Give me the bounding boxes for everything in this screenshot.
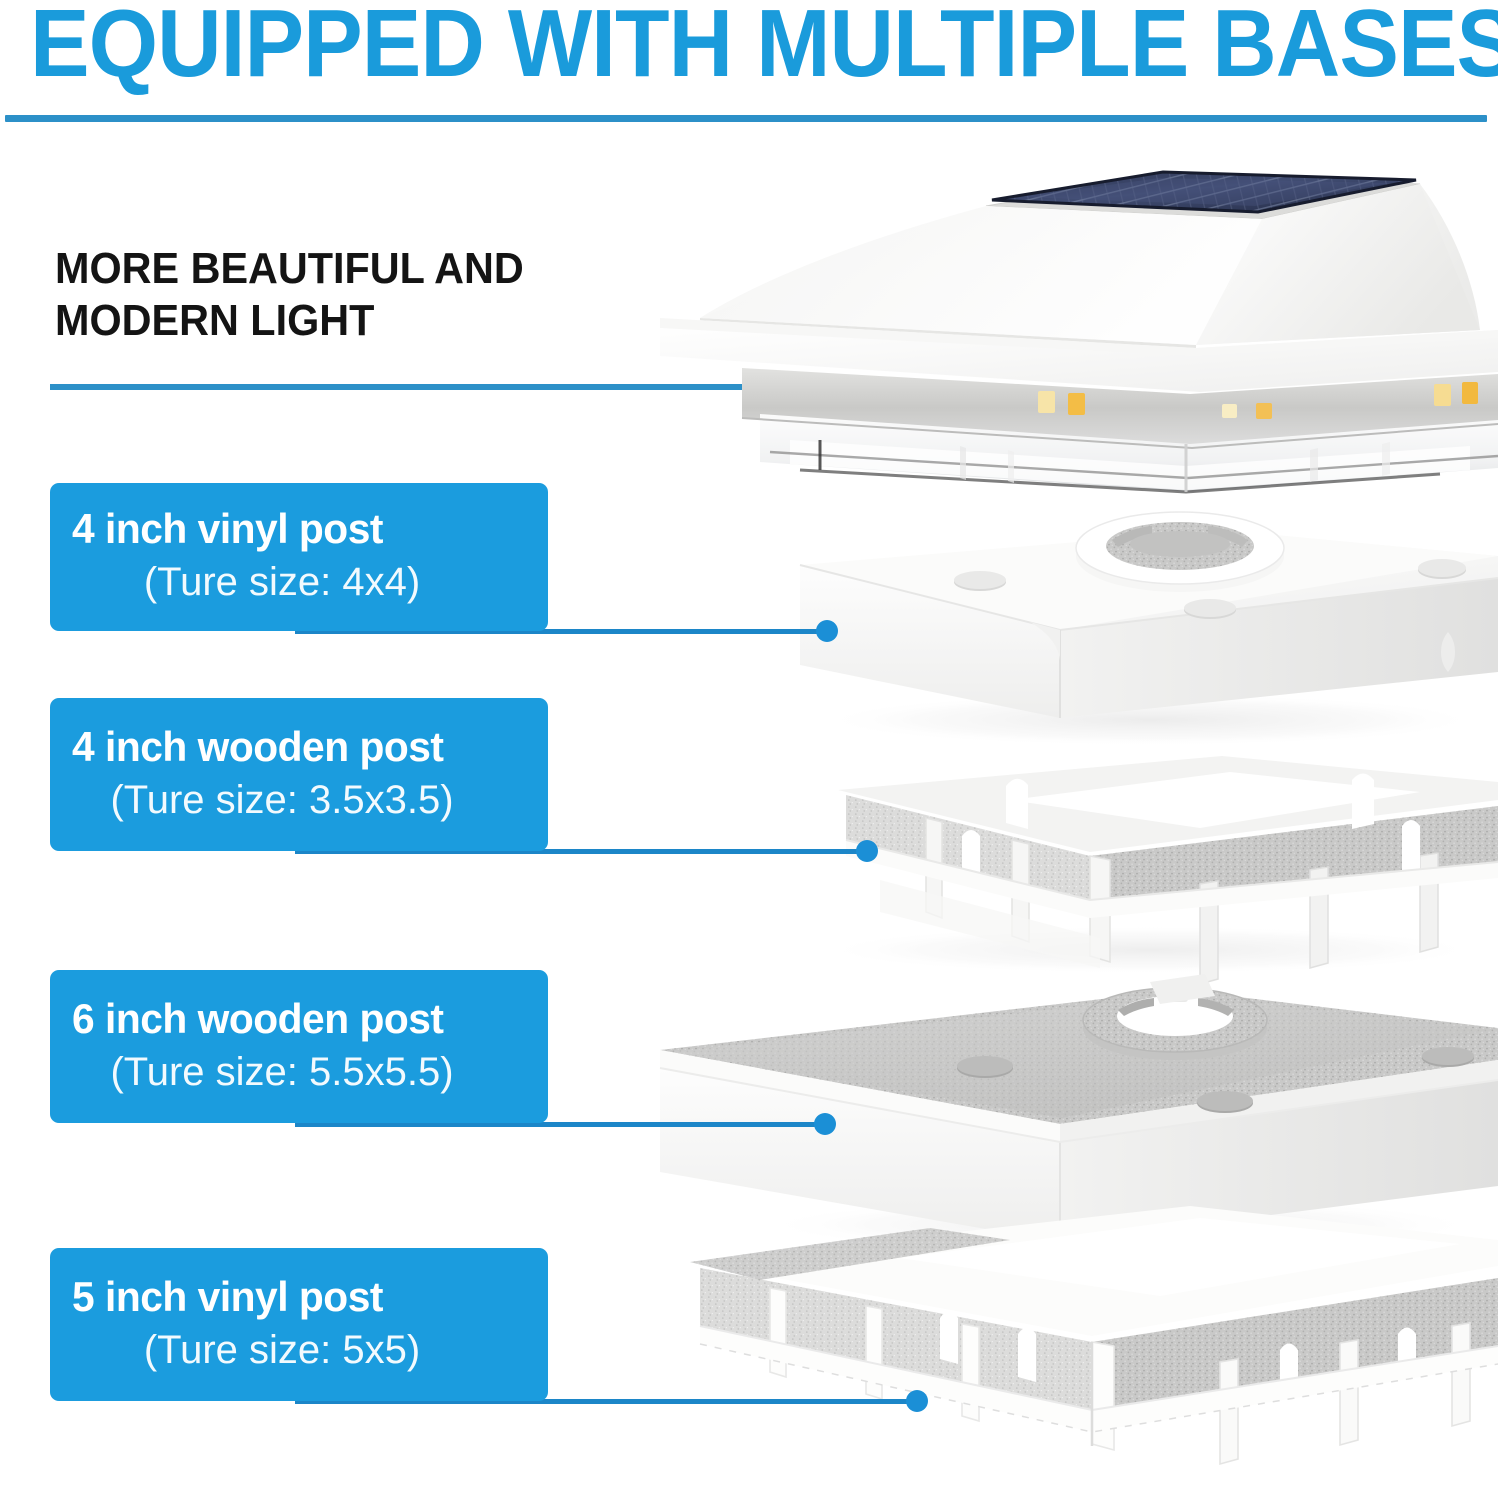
- subtitle-line-1: MORE BEAUTIFUL AND: [55, 243, 657, 295]
- subtitle-block: MORE BEAUTIFUL AND MODERN LIGHT: [55, 243, 657, 347]
- callout-dot-5-inch-vinyl: [906, 1390, 928, 1412]
- callout-title: 4 inch vinyl post: [72, 503, 512, 555]
- mount-collar-6in-wooden: [1083, 988, 1267, 1060]
- callout-size: (Ture size: 5.5x5.5): [72, 1045, 526, 1099]
- lamp-head: [660, 172, 1498, 492]
- callout-5-inch-vinyl-post[interactable]: 5 inch vinyl post (Ture size: 5x5): [50, 1248, 548, 1401]
- subtitle-leader-line: [50, 384, 822, 390]
- subtitle-line-2: MODERN LIGHT: [55, 295, 657, 347]
- callout-size: (Ture size: 5x5): [72, 1323, 526, 1377]
- base-6-inch-wooden: [660, 974, 1498, 1251]
- base-5-inch-vinyl: [690, 1206, 1498, 1464]
- callout-title: 4 inch wooden post: [72, 721, 512, 773]
- callout-size: (Ture size: 3.5x3.5): [72, 773, 526, 827]
- callout-dot-4-inch-wooden: [856, 840, 878, 862]
- callout-title: 6 inch wooden post: [72, 993, 512, 1045]
- callout-size: (Ture size: 4x4): [72, 555, 526, 609]
- callout-4-inch-wooden-post[interactable]: 4 inch wooden post (Ture size: 3.5x3.5): [50, 698, 548, 851]
- callout-title: 5 inch vinyl post: [72, 1271, 512, 1323]
- infographic-canvas: EQUIPPED WITH MULTIPLE BASES MORE BEAUTI…: [0, 0, 1498, 1500]
- page-title: EQUIPPED WITH MULTIPLE BASES: [30, 0, 1351, 94]
- callout-4-inch-vinyl-post[interactable]: 4 inch vinyl post (Ture size: 4x4): [50, 483, 548, 631]
- callout-dot-lamp: [816, 377, 838, 399]
- header-divider: [5, 115, 1487, 122]
- led-chips: [1038, 382, 1478, 419]
- callout-dot-4-inch-vinyl: [816, 620, 838, 642]
- mount-collar-4in-vinyl: [1076, 512, 1284, 592]
- base-4-inch-vinyl: [800, 512, 1498, 746]
- base-4-inch-wooden: [820, 756, 1498, 984]
- callout-6-inch-wooden-post[interactable]: 6 inch wooden post (Ture size: 5.5x5.5): [50, 970, 548, 1123]
- callout-dot-6-inch-wooden: [814, 1113, 836, 1135]
- solar-panel: [992, 172, 1416, 212]
